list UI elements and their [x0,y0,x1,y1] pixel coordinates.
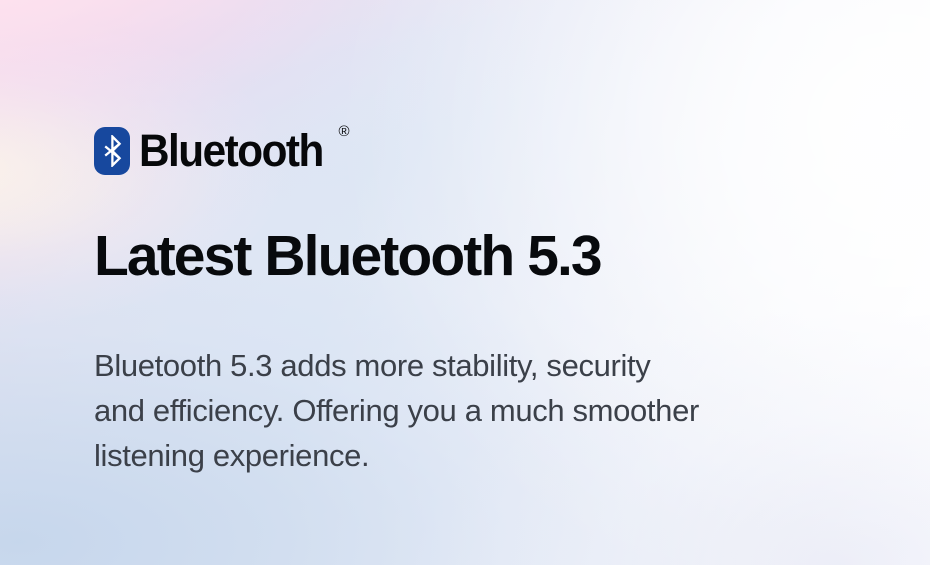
registered-trademark-icon: ® [339,124,350,139]
bluetooth-wordmark: Bluetooth [139,128,323,174]
description-line-3: listening experience. [94,433,854,478]
bluetooth-rune-icon [102,135,123,167]
hero-description: Bluetooth 5.3 adds more stability, secur… [94,343,854,478]
description-line-1: Bluetooth 5.3 adds more stability, secur… [94,343,854,388]
hero-content: Bluetooth ® Latest Bluetooth 5.3 Bluetoo… [94,0,874,565]
page-title: Latest Bluetooth 5.3 [94,222,601,290]
bluetooth-logo-lockup: Bluetooth ® [94,127,335,175]
description-line-2: and efficiency. Offering you a much smoo… [94,388,854,433]
bluetooth-feature-hero: Bluetooth ® Latest Bluetooth 5.3 Bluetoo… [0,0,930,565]
bluetooth-wordmark-wrap: Bluetooth ® [139,127,335,174]
bluetooth-badge [94,127,130,175]
